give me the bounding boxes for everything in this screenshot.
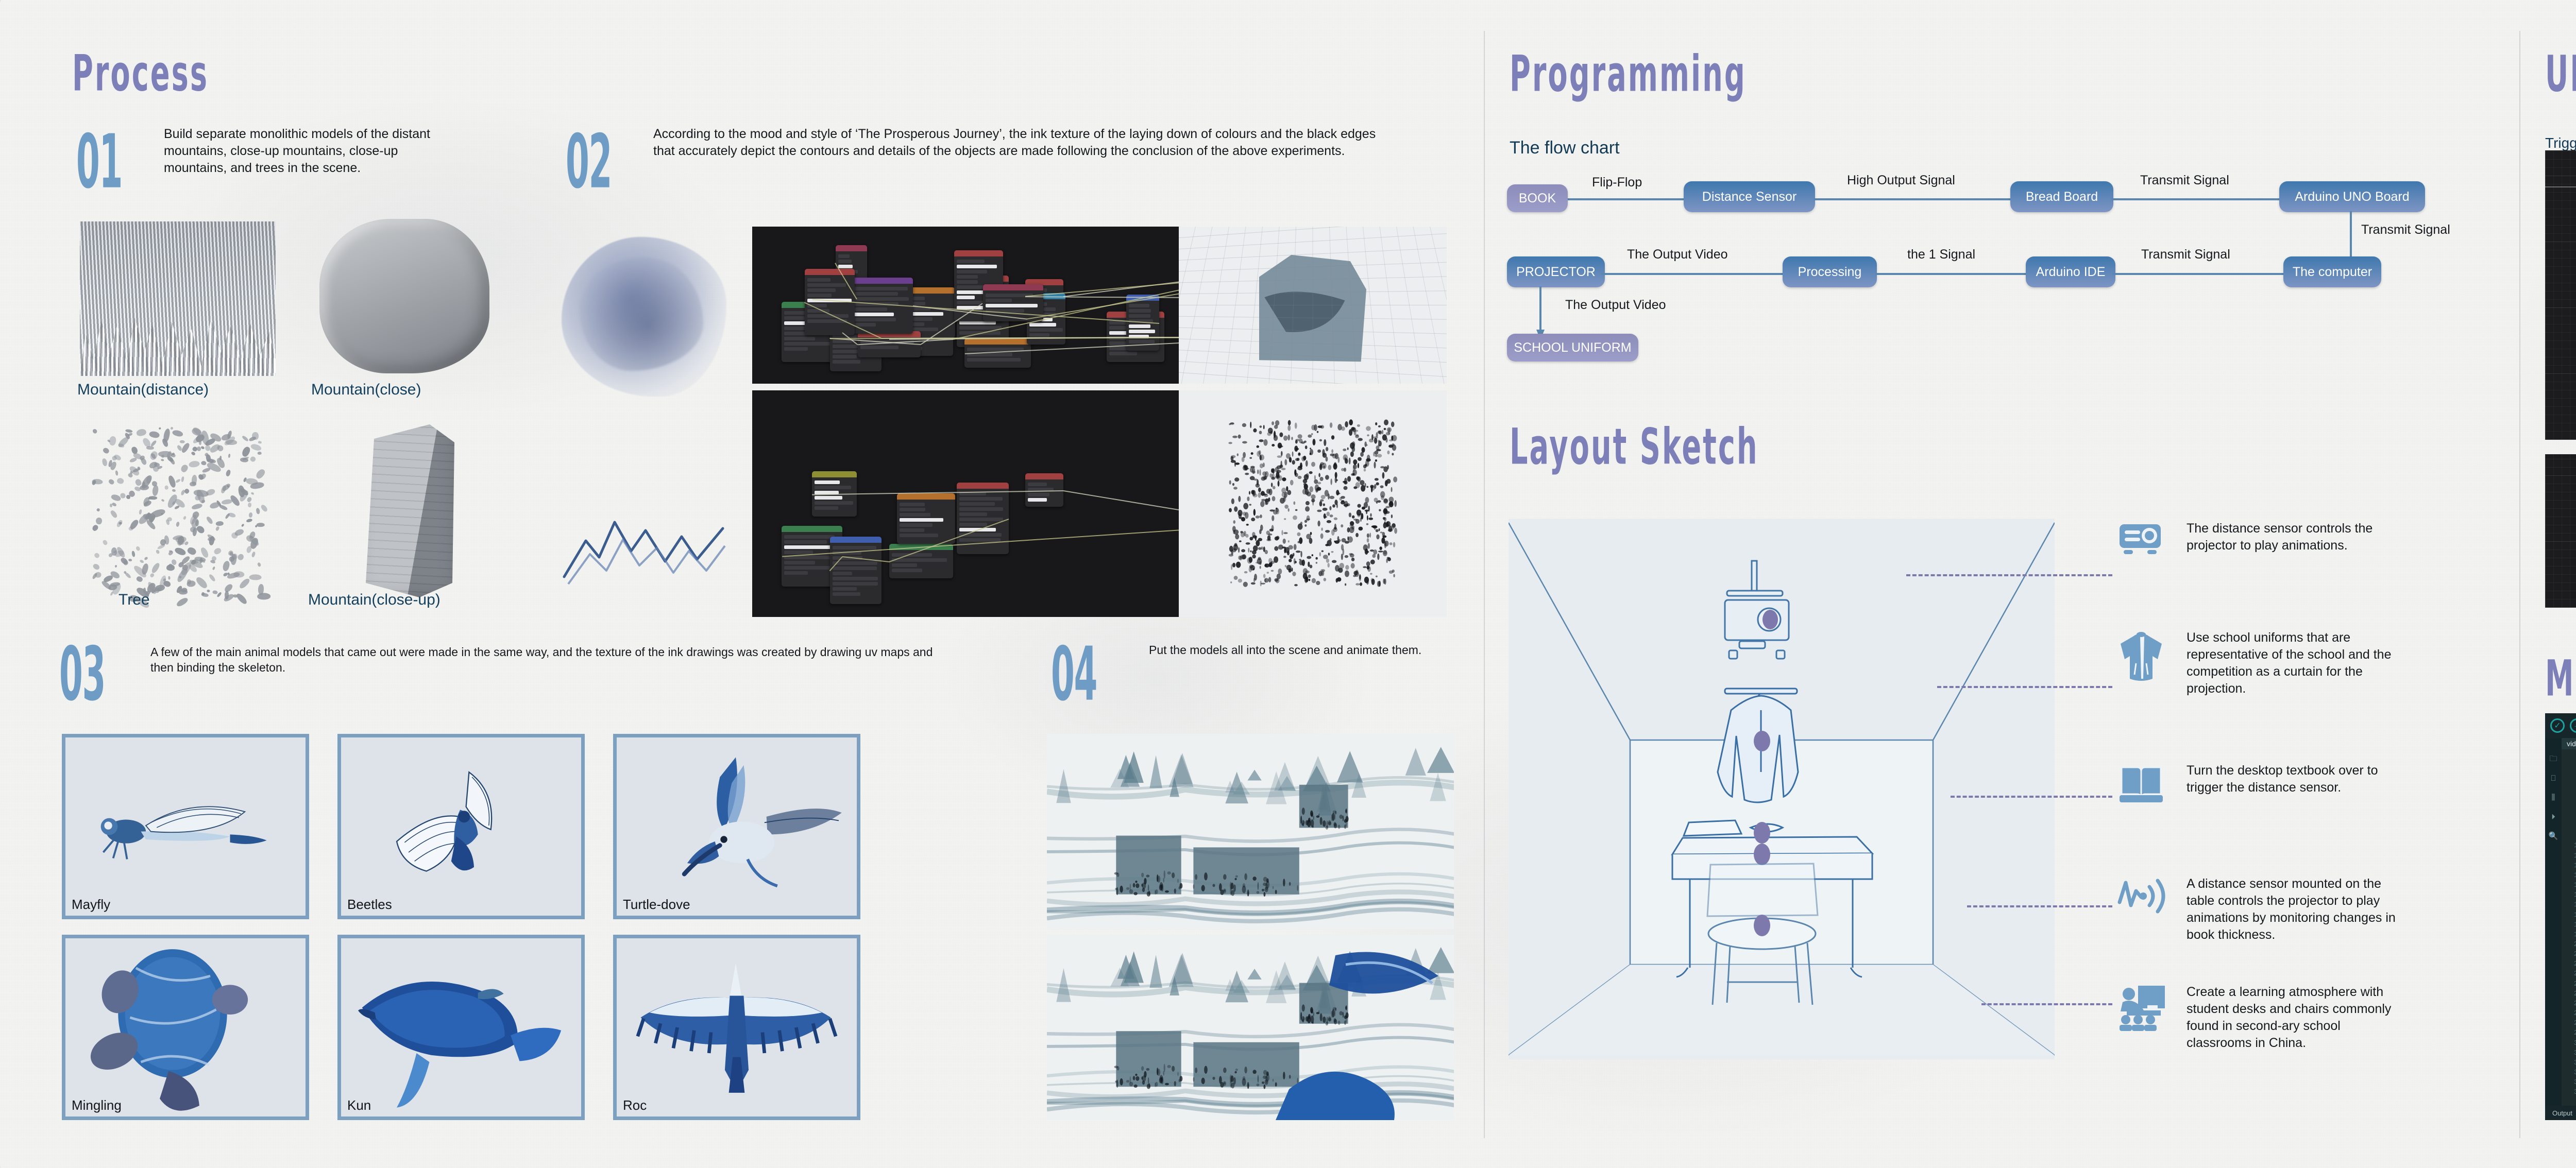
flow-node-arduino-uno-board[interactable]: Arduino UNO Board <box>2279 181 2425 212</box>
debugger-icon[interactable]: ⏵ <box>2545 808 2562 827</box>
code-line: 3#define PIN_ECHO 11 <box>2562 772 2576 782</box>
scene-render-bottom <box>1047 935 1454 1120</box>
signal-wave-icon <box>2117 875 2169 915</box>
flow-edge-label-the-1-signal: the 1 Signal <box>1907 247 1975 262</box>
annotation-text-sensor: A distance sensor mounted on the table c… <box>2187 875 2408 943</box>
code-line: 23 cm = (temp * 17 )/1000; <box>2562 969 2576 979</box>
ue5-process-title: UE5 Process <box>2545 49 2576 99</box>
ue5-blueprint-screenshot-bottom: trigger Custom Event ▶ Open Source Targe… <box>2545 454 2576 608</box>
code-line: 19 delayMicroseconds(10); <box>2562 930 2576 940</box>
roc-model-image <box>617 938 857 1117</box>
arduino-ide-screenshot: ✓ → ⏵ Arduino Leonardo ▾ video_Arduino.i… <box>2545 713 2576 1120</box>
animal-card-label: Roc <box>623 1097 647 1113</box>
code-line: 13} <box>2562 871 2576 881</box>
animal-card-label: Mayfly <box>72 897 110 913</box>
ue5-subtitle: Trigger video playback via UE5 <box>2545 135 2576 151</box>
beetle-model-image <box>341 737 581 916</box>
making-process-title: Making Process <box>2545 654 2576 703</box>
code-line: 22 temp = float(pulseIn(PIN_ECHO, HIGH))… <box>2562 959 2576 969</box>
animal-card-label: Turtle-dove <box>623 897 690 913</box>
classroom-icon <box>2117 984 2169 1031</box>
code-line: 12 pinMode(PIN_ECHO, INPUT); <box>2562 861 2576 871</box>
flow-edge-ide-computer <box>2112 273 2284 275</box>
flow-edge-label-transmit-1: Transmit Signal <box>2140 173 2229 188</box>
flow-node-processing[interactable]: Processing <box>1783 256 1877 287</box>
ink-blob-sample-core <box>580 257 703 371</box>
code-line: 35} <box>2562 1088 2576 1097</box>
ide-status-bar: Output Serial Monitor <box>2545 1106 2576 1120</box>
upload-icon[interactable]: → <box>2570 718 2576 733</box>
verify-icon[interactable]: ✓ <box>2550 718 2565 733</box>
code-line: 8void setup () <box>2562 821 2576 831</box>
flow-node-distance-sensor[interactable]: Distance Sensor <box>1684 181 1815 212</box>
code-line: 21 <box>2562 950 2576 959</box>
code-line: 29 Serial.println("cm"); <box>2562 1028 2576 1038</box>
flow-edge-projector-processing <box>1601 273 1784 275</box>
flow-node-book[interactable]: BOOK <box>1507 184 1568 212</box>
dash-connector-1 <box>1906 574 2112 576</box>
step-number-02: 02 <box>566 131 612 192</box>
code-line: 26 Serial.print(temp); <box>2562 999 2576 1009</box>
code-line: 5float temp; <box>2562 792 2576 802</box>
arduino-code-block: 1#include <Keyboard.h>2#define PIN_TRIG … <box>2562 749 2576 1097</box>
code-line: 18 digitalWrite(PIN_TRIG, HIGH); <box>2562 920 2576 930</box>
code-line: 25 Serial.print("Echo = "); <box>2562 989 2576 999</box>
animal-card-roc[interactable]: Roc <box>613 935 860 1120</box>
boards-manager-icon[interactable]: ⎕ <box>2545 769 2562 788</box>
ide-sidebar: 🗀 ⎕ ⫼ ⏵ 🔍 <box>2545 738 2562 1106</box>
model-thumb-tree <box>88 426 268 596</box>
code-line: 17 delayMicroseconds(2); <box>2562 911 2576 920</box>
model-thumb-mountain-close <box>319 219 489 373</box>
flow-edge-label-transmit-2: Transmit Signal <box>2361 222 2450 237</box>
animal-card-label: Kun <box>347 1097 371 1113</box>
animal-card-mingling[interactable]: Mingling <box>62 935 309 1120</box>
flow-edge-processing-ide <box>1875 273 2030 275</box>
code-line: 20 digitalWrite(PIN_TRIG, LOW); <box>2562 940 2576 950</box>
output-tab[interactable]: Output <box>2552 1109 2572 1117</box>
code-line: 15{ <box>2562 890 2576 900</box>
ink-mountain-sketch <box>559 479 729 592</box>
code-line: 27 Serial.print(", Distance = "); <box>2562 1009 2576 1019</box>
layout-sketch-title: Layout Sketch <box>1510 422 1759 472</box>
animal-card-mayfly[interactable]: Mayfly <box>62 734 309 919</box>
uniform-jacket-icon <box>2117 629 2165 681</box>
step-number-04: 04 <box>1051 644 1097 705</box>
dash-connector-4 <box>1967 905 2112 907</box>
animal-card-label: Mingling <box>72 1097 122 1113</box>
flow-edge-label-high-output: High Output Signal <box>1847 173 1955 188</box>
code-line: 28 Serial.print(cm); <box>2562 1019 2576 1028</box>
viewport-ink-mountain <box>1179 227 1447 384</box>
code-line: 14void loop() <box>2562 881 2576 890</box>
code-line: 32 if(cm<150){ <box>2562 1058 2576 1068</box>
flow-edge-label-output-video-1: The Output Video <box>1627 247 1728 262</box>
flow-node-arduino-ide[interactable]: Arduino IDE <box>2026 256 2115 287</box>
annotation-text-classroom: Create a learning atmosphere with studen… <box>2187 984 2408 1052</box>
arduino-ide-toolbar: ✓ → ⏵ Arduino Leonardo ▾ <box>2545 713 2576 738</box>
flow-chart-label: The flow chart <box>1510 138 1620 158</box>
flow-edge-label-output-video-2: The Output Video <box>1565 298 1666 313</box>
flow-edge-sensor-bread <box>1814 198 2012 200</box>
process-title: Process <box>72 49 209 98</box>
code-line: 11 pinMode(PIN_TRIG, OUTPUT); <box>2562 851 2576 861</box>
code-line: 24 <box>2562 980 2576 989</box>
file-tab[interactable]: video_Arduino.ino <box>2562 738 2576 749</box>
caption-tree: Tree <box>118 591 150 609</box>
flow-node-bread-board[interactable]: Bread Board <box>2010 181 2113 212</box>
animal-card-label: Beetles <box>347 897 392 913</box>
flow-edge-book-sensor <box>1564 198 1687 200</box>
classroom-layout-sketch <box>1509 519 2055 1059</box>
code-line: 6int speedPin=2; <box>2562 802 2576 812</box>
presentation-board: Process 01 Build separate monolithic mod… <box>0 0 2576 1168</box>
library-manager-icon[interactable]: ⫼ <box>2545 788 2562 808</box>
code-line: 31 <box>2562 1049 2576 1058</box>
flow-edge-bread-uno <box>2111 198 2281 200</box>
flow-node-projector[interactable]: PROJECTOR <box>1507 256 1605 287</box>
annotation-text-projector: The distance sensor controls the project… <box>2187 520 2408 554</box>
code-line: 30 delay(300); <box>2562 1039 2576 1049</box>
step-text-03: A few of the main animal models that cam… <box>150 645 949 676</box>
dash-connector-5 <box>1981 1003 2112 1005</box>
step-number-01: 01 <box>76 131 122 192</box>
whale-model-image <box>341 938 581 1117</box>
animal-card-beetles[interactable]: Beetles <box>337 734 585 919</box>
projector-icon <box>2116 520 2164 561</box>
code-line: 2#define PIN_TRIG 12 <box>2562 762 2576 772</box>
scene-render-top <box>1047 734 1454 930</box>
caption-mountain-distance: Mountain(distance) <box>77 381 209 399</box>
dash-connector-3 <box>1951 796 2112 798</box>
column-divider-left <box>1484 31 1485 1138</box>
ue5-blueprint-screenshot-top: Event BeginPlay ▶ Create Video Player Wi… <box>2545 150 2576 440</box>
column-divider-right <box>2519 31 2520 1138</box>
programming-title: Programming <box>1510 49 1747 99</box>
model-thumb-mountain-distance <box>80 221 276 376</box>
caption-mountain-closeup: Mountain(close-up) <box>308 591 440 609</box>
turtle-dove-model-image <box>617 737 857 916</box>
viewport-black-outline <box>1179 390 1447 617</box>
step-text-04: Put the models all into the scene and an… <box>1149 643 1427 658</box>
caption-mountain-close: Mountain(close) <box>311 381 421 399</box>
code-line: 4float cm; <box>2562 782 2576 792</box>
turtle-model-image <box>65 938 306 1117</box>
code-line: 16digitalWrite(PIN_TRIG, LOW); <box>2562 900 2576 910</box>
search-icon[interactable]: 🔍 <box>2545 827 2562 846</box>
animal-card-kun[interactable]: Kun <box>337 935 585 1120</box>
flow-edge-label-transmit-3: Transmit Signal <box>2141 247 2230 262</box>
annotation-text-uniform: Use school uniforms that are representat… <box>2187 629 2408 697</box>
animal-card-turtle-dove[interactable]: Turtle-dove <box>613 734 860 919</box>
mayfly-model-image <box>65 737 306 916</box>
code-line: 1#include <Keyboard.h> <box>2562 752 2576 762</box>
code-line: 9{ <box>2562 831 2576 841</box>
code-line: 7int cntValue=0; <box>2562 812 2576 821</box>
code-line: 33 Keyboard.press(0x20); <box>2562 1068 2576 1078</box>
flow-node-school-uniform[interactable]: SCHOOL UNIFORM <box>1507 334 1638 362</box>
flow-edge-label-flip-flop: Flip-Flop <box>1592 175 1642 190</box>
annotation-text-book: Turn the desktop textbook over to trigge… <box>2187 762 2408 796</box>
code-line: 10 Serial.begin(9600); <box>2562 841 2576 851</box>
step-number-03: 03 <box>59 644 105 705</box>
sketchbook-icon[interactable]: 🗀 <box>2545 749 2562 769</box>
flow-node-the-computer[interactable]: The computer <box>2283 256 2381 287</box>
open-book-icon <box>2117 762 2165 806</box>
model-thumb-mountain-closeup <box>355 417 459 597</box>
code-line: 34 } <box>2562 1078 2576 1088</box>
dash-connector-2 <box>1937 686 2112 688</box>
step-text-02: According to the mood and style of ‘The … <box>653 126 1390 160</box>
step-text-01: Build separate monolithic models of the … <box>164 126 452 177</box>
